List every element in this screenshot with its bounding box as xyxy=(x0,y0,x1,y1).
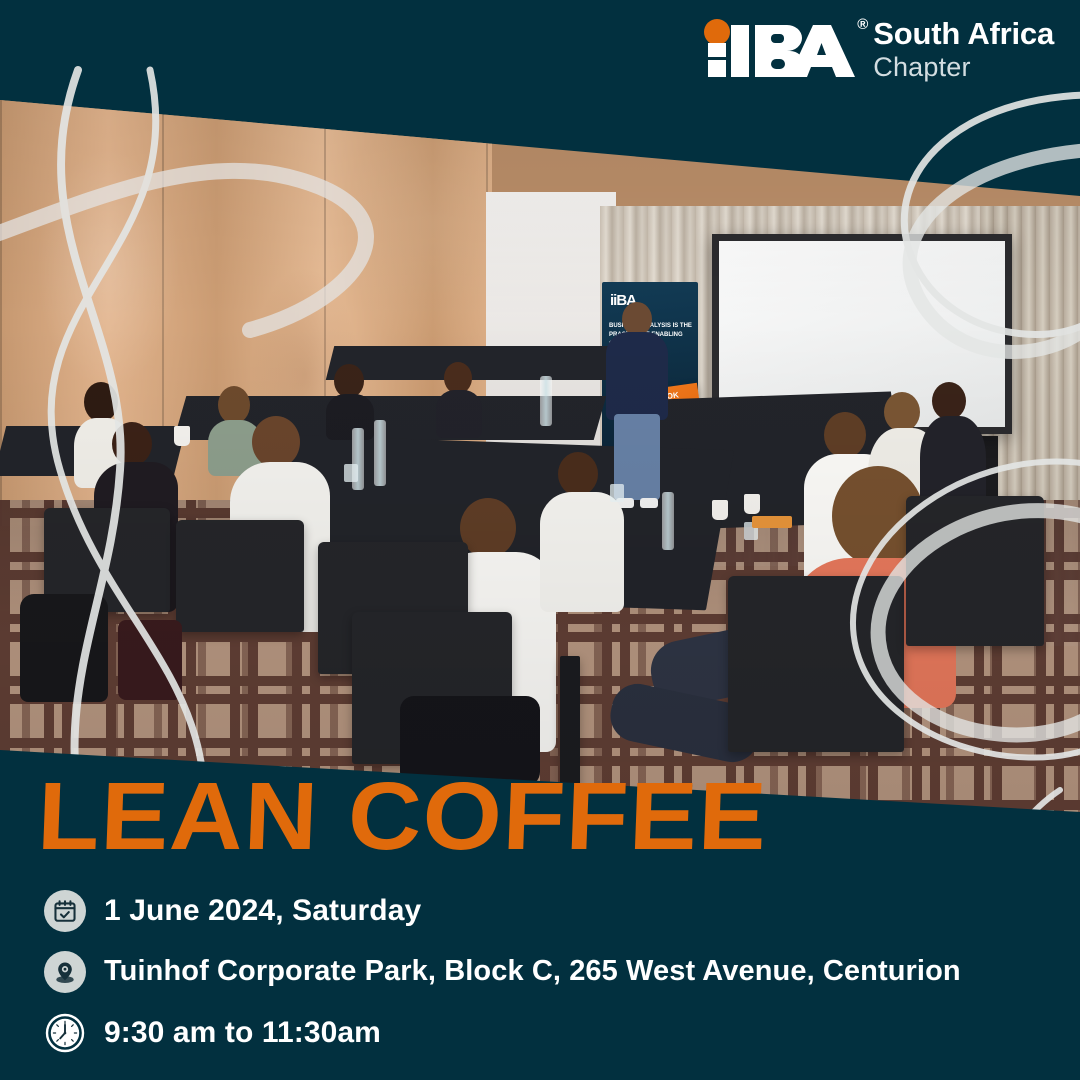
detail-row-location: Tuinhof Corporate Park, Block C, 265 Wes… xyxy=(44,941,1054,1002)
chapter-name-line1: South Africa xyxy=(873,18,1054,49)
header: ® South Africa Chapter xyxy=(0,0,1080,100)
iiba-logo-lockup[interactable]: ® South Africa Chapter xyxy=(695,18,1054,83)
detail-row-time: 9:30 am to 11:30am xyxy=(44,1002,1054,1063)
calendar-check-icon xyxy=(44,890,86,932)
clock-icon xyxy=(44,1012,86,1054)
registered-trademark-icon: ® xyxy=(857,16,868,33)
page-title: LEAN COFFEE xyxy=(36,776,769,859)
event-location-text: Tuinhof Corporate Park, Block C, 265 Wes… xyxy=(104,955,961,988)
detail-row-date: 1 June 2024, Saturday xyxy=(44,880,1054,941)
event-time-text: 9:30 am to 11:30am xyxy=(104,1016,381,1050)
iiba-logo-icon xyxy=(695,21,861,79)
poster-canvas: iiBA BUSINESS ANALYSIS IS THE PRACTICE O… xyxy=(0,0,1080,1080)
map-pin-icon xyxy=(44,951,86,993)
event-details: 1 June 2024, Saturday Tuinhof Corporate … xyxy=(44,880,1054,1063)
page-title-text: LEAN COFFEE xyxy=(36,776,769,859)
photo-vignette xyxy=(0,96,1080,844)
event-date-text: 1 June 2024, Saturday xyxy=(104,894,421,928)
chapter-name-line2: Chapter xyxy=(873,54,1054,81)
